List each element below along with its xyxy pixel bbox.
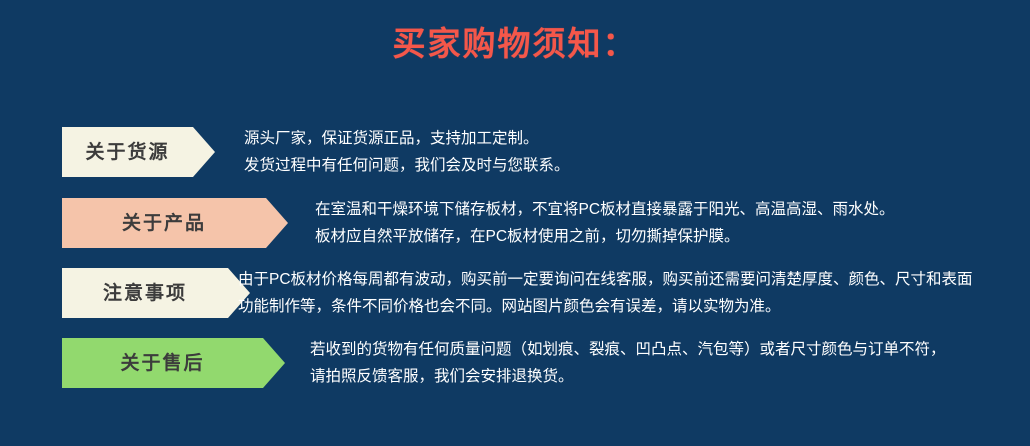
notice-banner-label: 注意事项 <box>103 284 187 303</box>
notice-banner-attention: 注意事项 <box>62 268 250 318</box>
notice-body: 由于PC板材价格每周都有波动，购买前一定要询问在线客服，购买前还需要问清楚厚度、… <box>238 266 973 320</box>
notice-body-line: 在室温和干燥环境下储存板材，不宜将PC板材直接暴露于阳光、高温高湿、雨水处。 <box>315 196 895 223</box>
notice-body-line: 源头厂家，保证货源正品，支持加工定制。 <box>244 125 570 152</box>
notice-row: 关于售后 若收到的货物有任何质量问题（如划痕、裂痕、凹凸点、汽包等）或者尺寸颜色… <box>0 327 1030 399</box>
notice-body: 源头厂家，保证货源正品，支持加工定制。 发货过程中有任何问题，我们会及时与您联系… <box>244 125 570 179</box>
notice-banner-source: 关于货源 <box>62 127 215 177</box>
notice-banner-label: 关于售后 <box>120 354 204 373</box>
notice-banner-label: 关于货源 <box>85 143 169 162</box>
notice-body-line: 请拍照反馈客服，我们会安排退换货。 <box>310 363 946 390</box>
notice-row: 关于产品 在室温和干燥环境下储存板材，不宜将PC板材直接暴露于阳光、高温高湿、雨… <box>0 187 1030 259</box>
notice-body-line: 功能制作等，条件不同价格也会不同。网站图片颜色会有误差，请以实物为准。 <box>238 293 973 320</box>
notice-row: 关于货源 源头厂家，保证货源正品，支持加工定制。 发货过程中有任何问题，我们会及… <box>0 116 1030 188</box>
notice-body-line: 板材应自然平放储存，在PC板材使用之前，切勿撕掉保护膜。 <box>315 223 895 250</box>
notice-banner-aftersales: 关于售后 <box>62 338 285 388</box>
notice-body: 在室温和干燥环境下储存板材，不宜将PC板材直接暴露于阳光、高温高湿、雨水处。 板… <box>315 196 895 250</box>
notice-row: 注意事项 由于PC板材价格每周都有波动，购买前一定要询问在线客服，购买前还需要问… <box>0 257 1030 329</box>
notice-banner-product: 关于产品 <box>62 198 288 248</box>
notice-banner-label: 关于产品 <box>122 214 206 233</box>
notice-body-line: 由于PC板材价格每周都有波动，购买前一定要询问在线客服，购买前还需要问清楚厚度、… <box>238 266 973 293</box>
notice-body: 若收到的货物有任何质量问题（如划痕、裂痕、凹凸点、汽包等）或者尺寸颜色与订单不符… <box>310 336 946 390</box>
page-title: 买家购物须知： <box>0 22 1030 66</box>
notice-body-line: 若收到的货物有任何质量问题（如划痕、裂痕、凹凸点、汽包等）或者尺寸颜色与订单不符… <box>310 336 946 363</box>
notice-body-line: 发货过程中有任何问题，我们会及时与您联系。 <box>244 152 570 179</box>
buyer-notice-page: 买家购物须知： 关于货源 源头厂家，保证货源正品，支持加工定制。 发货过程中有任… <box>0 0 1030 446</box>
